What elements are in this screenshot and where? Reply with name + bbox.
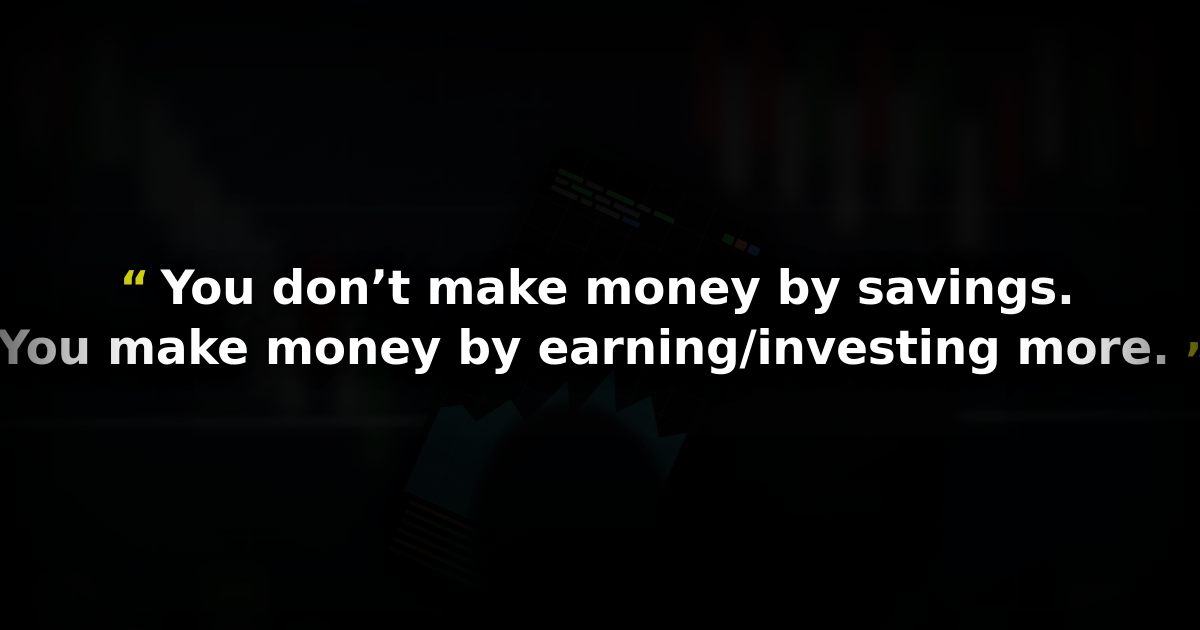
quote-block: “ You don’t make money by savings. You m… bbox=[0, 0, 1200, 630]
quote-line-1-text: You don’t make money by savings. bbox=[161, 259, 1075, 319]
quote-card: “ You don’t make money by savings. You m… bbox=[0, 0, 1200, 630]
quote-line-2: You make money by earning/investing more… bbox=[0, 319, 1200, 379]
quote-line-2-text: You make money by earning/investing more… bbox=[0, 319, 1170, 379]
quote-line-1: “ You don’t make money by savings. bbox=[119, 259, 1074, 319]
open-quote-icon: “ bbox=[119, 265, 147, 311]
close-quote-icon: ” bbox=[1184, 337, 1200, 383]
